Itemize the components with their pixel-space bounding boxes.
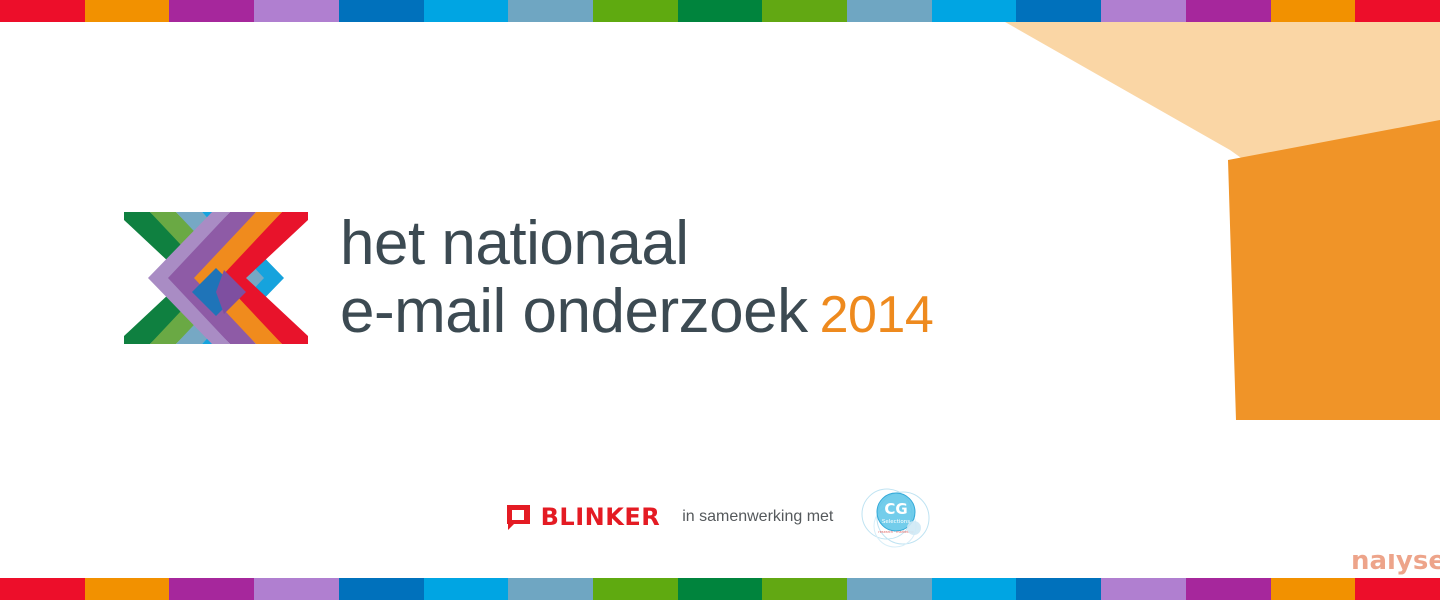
- title-line-1-text: het nationaal: [340, 210, 689, 278]
- strip-segment: [1101, 578, 1186, 600]
- strip-segment: [339, 0, 424, 22]
- bleed-edge-artifact: nalyse: [1330, 554, 1440, 586]
- strip-segment: [0, 578, 85, 600]
- dark-wedge-shape: [1228, 120, 1440, 420]
- collaboration-label: in samenwerking met: [682, 508, 833, 526]
- strip-segment: [1186, 0, 1271, 22]
- strip-segment: [593, 578, 678, 600]
- strip-segment: [678, 0, 763, 22]
- light-wedge-shape: [998, 18, 1440, 300]
- strip-segment: [1101, 0, 1186, 22]
- color-strip-bottom: [0, 578, 1440, 600]
- strip-segment: [932, 0, 1017, 22]
- cg-partner-logo: CG Selections research · marketing: [855, 486, 935, 548]
- title-line-2-text: e-mail onderzoek: [340, 278, 808, 346]
- title-line-2: e-mail onderzoek 2014: [340, 278, 933, 346]
- strip-segment: [508, 578, 593, 600]
- strip-segment: [593, 0, 678, 22]
- strip-segment: [762, 0, 847, 22]
- strip-segment: [1016, 578, 1101, 600]
- strip-segment: [1355, 0, 1440, 22]
- speech-bubble-icon: [505, 504, 532, 531]
- strip-segment: [254, 578, 339, 600]
- title-year: 2014: [820, 289, 934, 341]
- title-lockup: het nationaal e-mail onderzoek 2014: [120, 208, 933, 348]
- cg-initials: CG: [885, 500, 908, 518]
- corner-wedge-decoration: [980, 0, 1440, 420]
- cg-subtitle: Selections: [882, 519, 910, 525]
- strip-segment: [678, 578, 763, 600]
- partner-row: BLINKER in samenwerking met CG Selection…: [0, 486, 1440, 548]
- strip-segment: [85, 578, 170, 600]
- strip-segment: [1186, 578, 1271, 600]
- strip-segment: [424, 578, 509, 600]
- strip-segment: [0, 0, 85, 22]
- color-strip-top: [0, 0, 1440, 22]
- blinker-wordmark: BLINKER: [541, 503, 661, 531]
- strip-segment: [254, 0, 339, 22]
- strip-segment: [169, 0, 254, 22]
- strip-segment: [762, 578, 847, 600]
- title-line-1: het nationaal: [340, 210, 933, 278]
- strip-segment: [169, 578, 254, 600]
- strip-segment: [85, 0, 170, 22]
- bleed-edge-text: nalyse: [1351, 554, 1440, 576]
- strip-segment: [339, 578, 424, 600]
- strip-segment: [1016, 0, 1101, 22]
- envelope-x-logo-icon: [120, 208, 312, 348]
- strip-segment: [932, 578, 1017, 600]
- blinker-logo: BLINKER: [505, 503, 661, 531]
- strip-segment: [508, 0, 593, 22]
- strip-segment: [847, 578, 932, 600]
- strip-segment: [847, 0, 932, 22]
- strip-segment: [424, 0, 509, 22]
- presentation-slide: het nationaal e-mail onderzoek 2014 BLIN…: [0, 0, 1440, 600]
- strip-segment: [1271, 0, 1356, 22]
- wordmark: het nationaal e-mail onderzoek 2014: [340, 210, 933, 346]
